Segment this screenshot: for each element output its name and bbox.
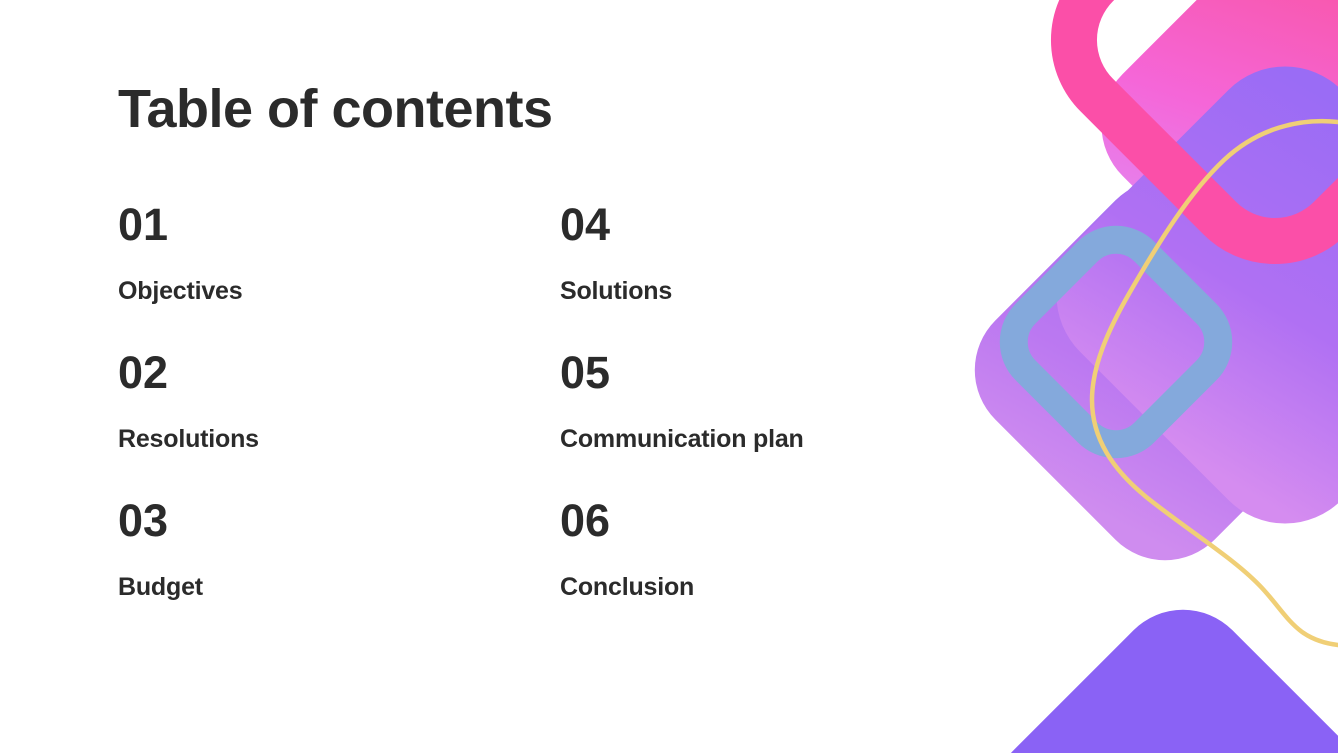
toc-item-01[interactable]: 01 Objectives (118, 202, 560, 350)
table-of-contents-list: 01 Objectives 04 Solutions 02 Resolution… (118, 202, 948, 646)
toc-label: Solutions (560, 279, 948, 304)
toc-number: 02 (118, 350, 560, 395)
toc-item-05[interactable]: 05 Communication plan (560, 350, 948, 498)
toc-item-02[interactable]: 02 Resolutions (118, 350, 560, 498)
toc-number: 01 (118, 202, 560, 247)
toc-number: 06 (560, 498, 948, 543)
toc-label: Budget (118, 575, 560, 600)
slide-content: Table of contents 01 Objectives 04 Solut… (0, 0, 1338, 753)
slide-root: Table of contents 01 Objectives 04 Solut… (0, 0, 1338, 753)
page-title: Table of contents (118, 78, 553, 140)
toc-item-06[interactable]: 06 Conclusion (560, 498, 948, 646)
toc-label: Objectives (118, 279, 560, 304)
toc-item-03[interactable]: 03 Budget (118, 498, 560, 646)
toc-number: 04 (560, 202, 948, 247)
toc-label: Conclusion (560, 575, 948, 600)
toc-number: 03 (118, 498, 560, 543)
toc-label: Resolutions (118, 427, 560, 452)
toc-number: 05 (560, 350, 948, 395)
toc-item-04[interactable]: 04 Solutions (560, 202, 948, 350)
toc-label: Communication plan (560, 427, 948, 452)
